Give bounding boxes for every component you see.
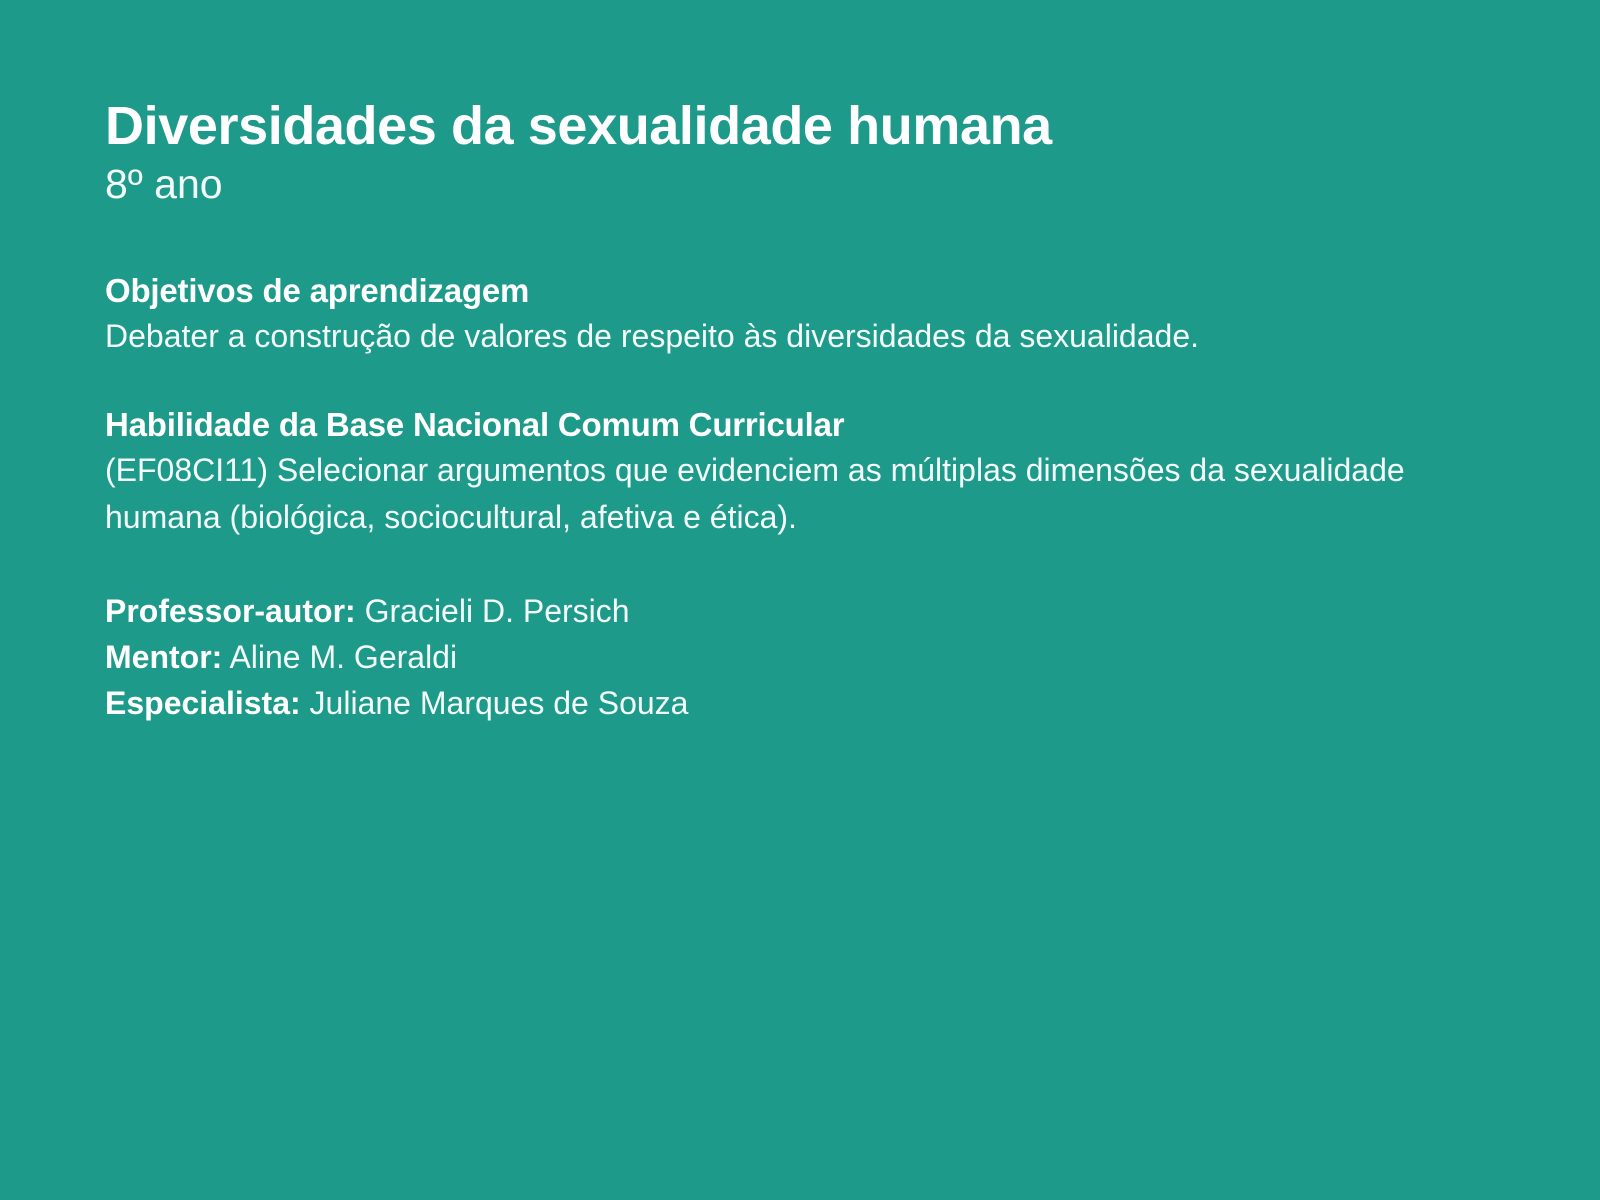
credit-value-especialista: Juliane Marques de Souza: [310, 685, 689, 721]
title-block: Diversidades da sexualidade humana 8º an…: [105, 96, 1505, 209]
section-bncc: Habilidade da Base Nacional Comum Curric…: [105, 405, 1505, 539]
page-subtitle: 8º ano: [105, 160, 1505, 208]
credit-value-professor-autor: Gracieli D. Persich: [365, 593, 630, 629]
credit-line-mentor: Mentor: Aline M. Geraldi: [105, 634, 1505, 680]
credit-label-mentor: Mentor:: [105, 639, 222, 675]
section-heading-bncc: Habilidade da Base Nacional Comum Curric…: [105, 405, 1505, 445]
section-body-objetivos: Debater a construção de valores de respe…: [105, 313, 1465, 359]
credits-block: Professor-autor: Gracieli D. Persich Men…: [105, 588, 1505, 726]
credit-value-mentor: Aline M. Geraldi: [229, 639, 457, 675]
credit-line-professor-autor: Professor-autor: Gracieli D. Persich: [105, 588, 1505, 634]
credit-label-professor-autor: Professor-autor:: [105, 593, 356, 629]
credit-line-especialista: Especialista: Juliane Marques de Souza: [105, 680, 1505, 726]
credit-label-especialista: Especialista:: [105, 685, 301, 721]
page-title: Diversidades da sexualidade humana: [105, 96, 1505, 156]
section-objetivos: Objetivos de aprendizagem Debater a cons…: [105, 271, 1505, 359]
section-body-bncc: (EF08CI11) Selecionar argumentos que evi…: [105, 447, 1465, 539]
section-heading-objetivos: Objetivos de aprendizagem: [105, 271, 1505, 311]
slide-content: Diversidades da sexualidade humana 8º an…: [105, 96, 1505, 726]
slide-canvas: Diversidades da sexualidade humana 8º an…: [0, 0, 1600, 1200]
